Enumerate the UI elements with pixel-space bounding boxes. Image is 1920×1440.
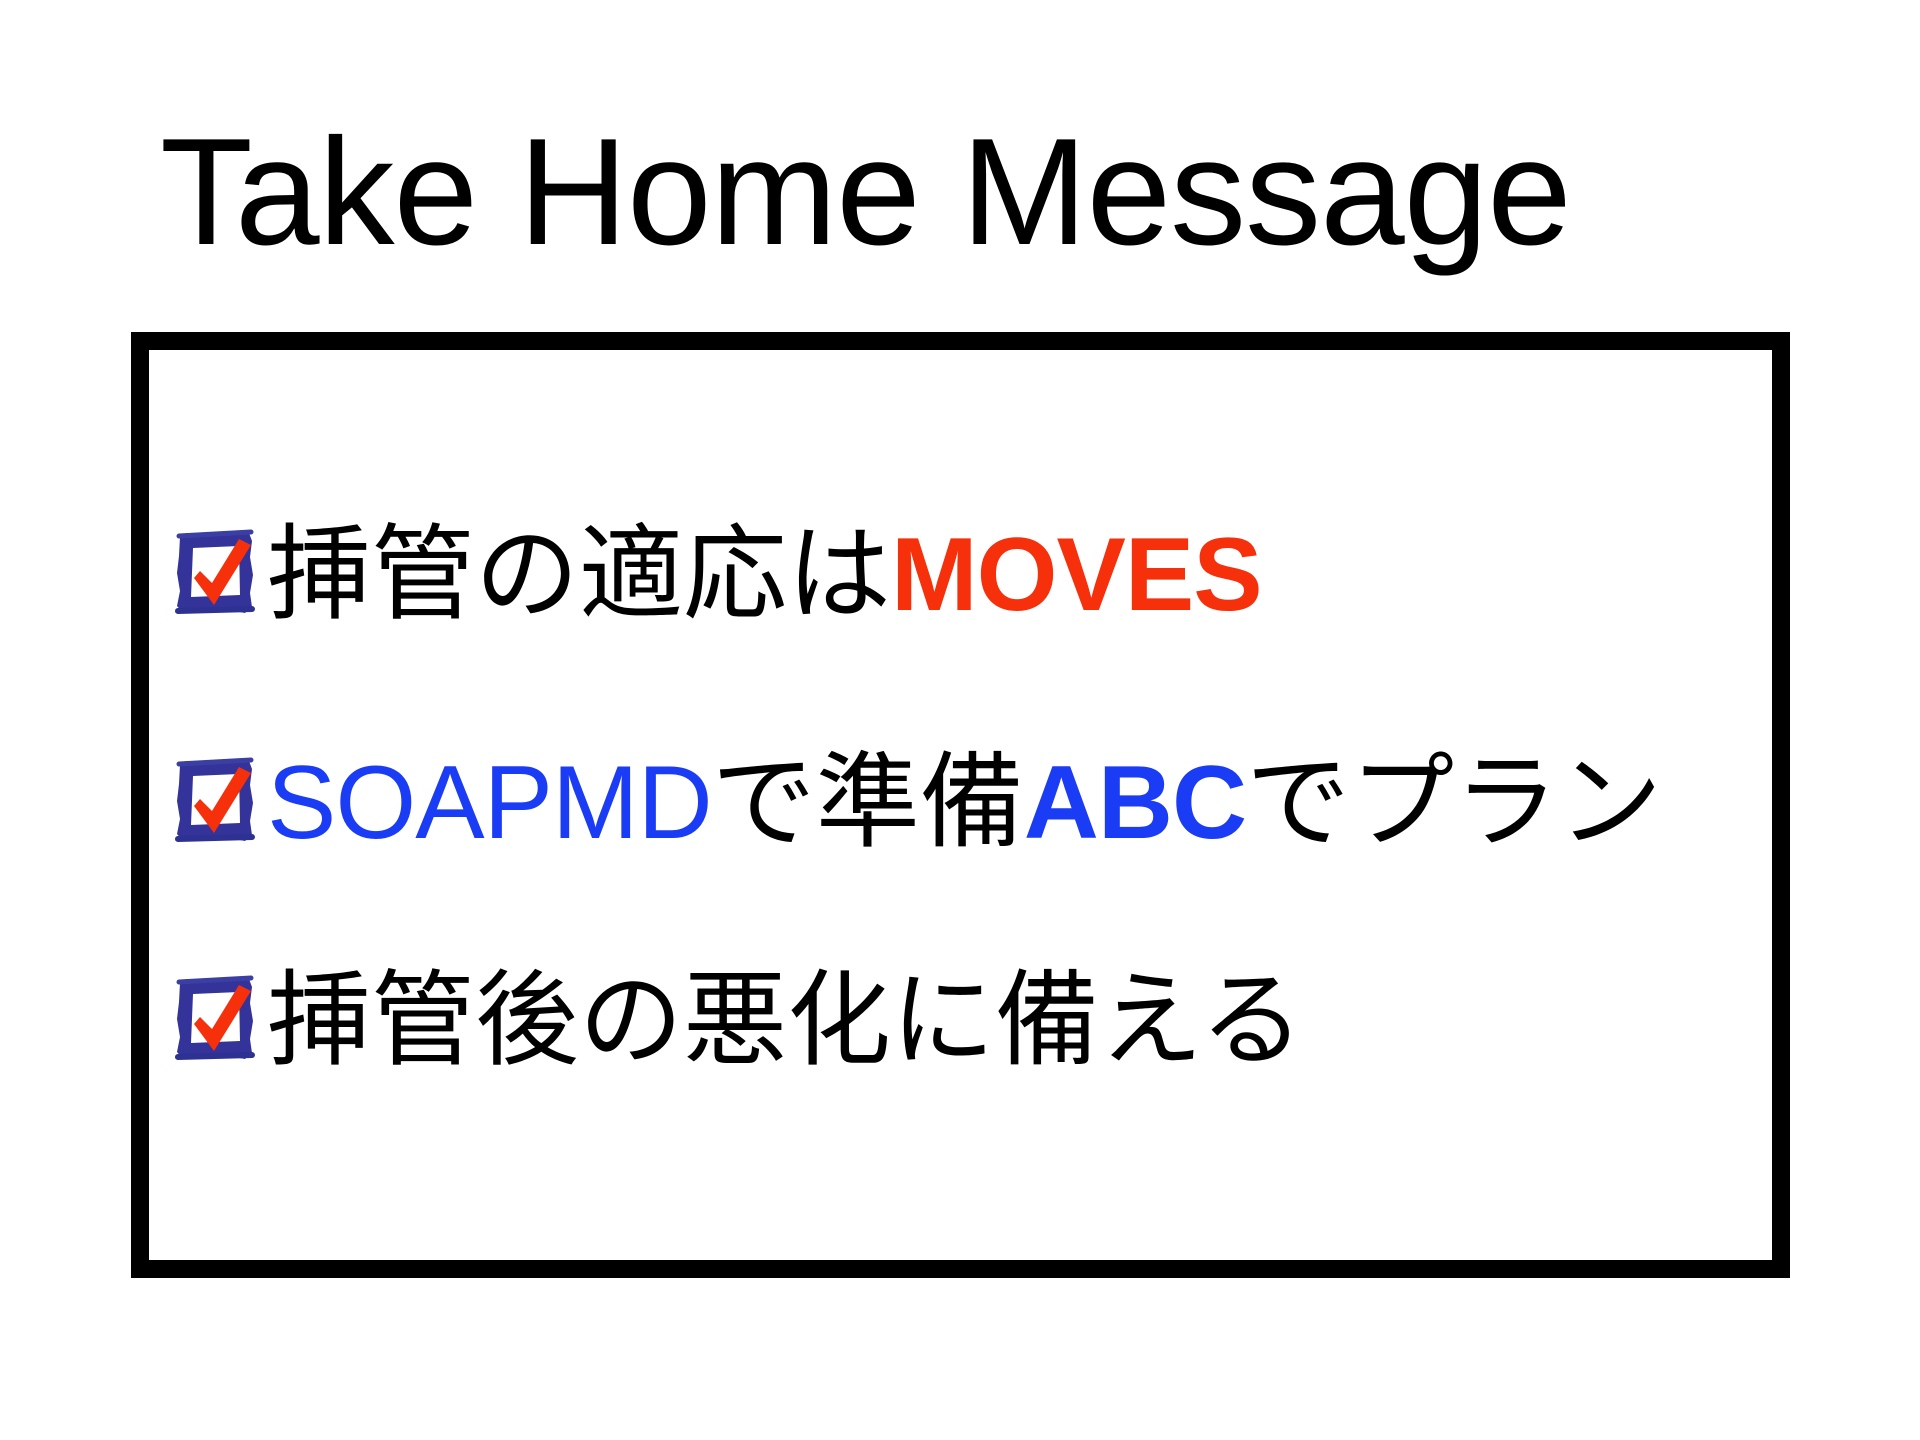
checked-checkbox-icon (167, 751, 263, 855)
list-item-text-run: で準備 (712, 748, 1024, 858)
checked-checkbox-icon (167, 523, 263, 627)
list-item: 挿管後の悪化に備える (167, 946, 1304, 1096)
list-item: 挿管の適応は MOVES (167, 500, 1262, 650)
list-item-text-run: でプラン (1246, 748, 1662, 858)
list-item: SOAPMD で準備 ABC でプラン (167, 728, 1662, 878)
list-item-accent-run: MOVES (891, 520, 1262, 630)
content-frame: 挿管の適応は MOVES SOAPMD で準備 ABC でプラン (131, 332, 1790, 1278)
list-item-text-run: 挿管後の悪化に備える (267, 966, 1304, 1076)
list-item-accent-run: SOAPMD (267, 748, 712, 858)
checklist: 挿管の適応は MOVES SOAPMD で準備 ABC でプラン (149, 350, 1772, 1260)
checked-checkbox-icon (167, 969, 263, 1073)
slide-canvas: Take Home Message 挿管の適応は M (0, 0, 1920, 1440)
page-title: Take Home Message (160, 112, 1780, 272)
list-item-accent-run: ABC (1024, 748, 1246, 858)
list-item-text-run: 挿管の適応は (267, 520, 891, 630)
